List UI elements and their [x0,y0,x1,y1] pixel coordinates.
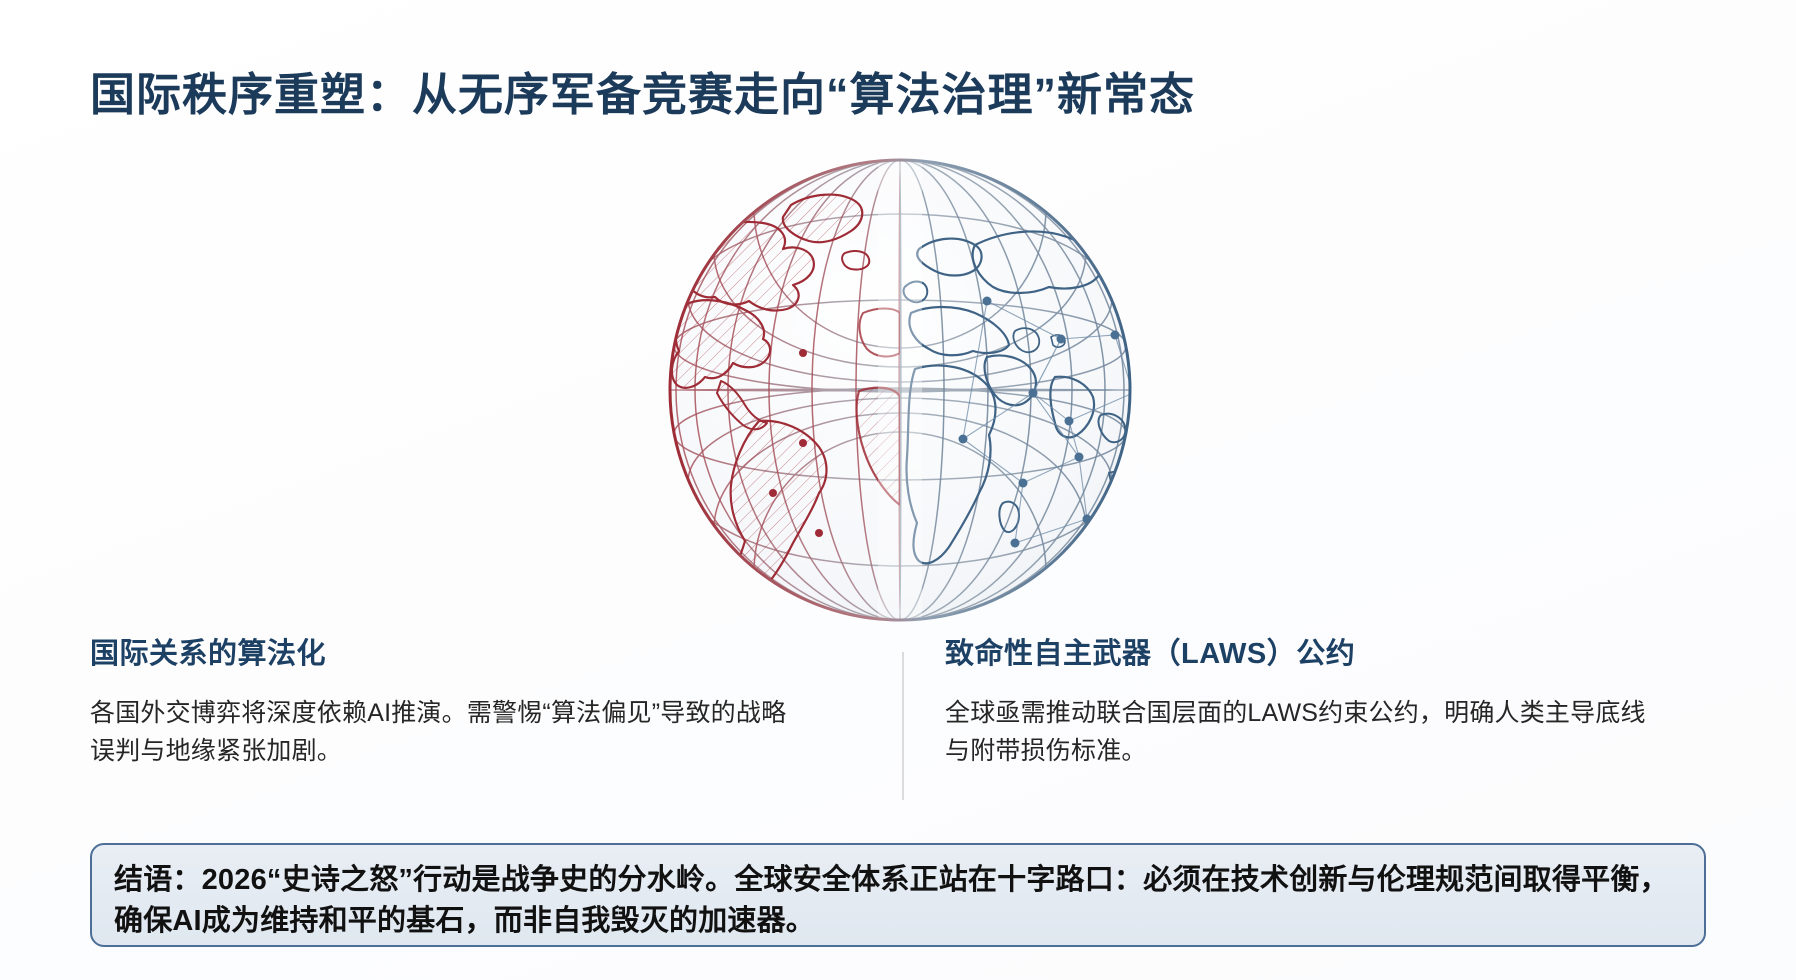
column-body-left: 各国外交博弈将深度依赖AI推演。需警惕“算法偏见”导致的战略误判与地缘紧张加剧。 [90,694,800,770]
column-laws-convention: 致命性自主武器（LAWS）公约 全球亟需推动联合国层面的LAWS约束公约，明确人… [945,630,1655,770]
column-heading-left: 国际关系的算法化 [90,630,800,672]
page-title: 国际秩序重塑：从无序军备竞赛走向“算法治理”新常态 [90,58,1195,123]
column-body-right: 全球亟需推动联合国层面的LAWS约束公约，明确人类主导底线与附带损伤标准。 [945,694,1655,770]
content-columns: 国际关系的算法化 各国外交博弈将深度依赖AI推演。需警惕“算法偏见”导致的战略误… [90,630,1710,800]
globe-icon [663,153,1137,627]
column-heading-right: 致命性自主武器（LAWS）公约 [945,630,1655,672]
conclusion-box: 结语：2026“史诗之怒”行动是战争史的分水岭。全球安全体系正站在十字路口：必须… [90,843,1706,947]
conclusion-text: 结语：2026“史诗之怒”行动是战争史的分水岭。全球安全体系正站在十字路口：必须… [114,860,1682,942]
column-divider [902,652,904,800]
column-international-relations: 国际关系的算法化 各国外交博弈将深度依赖AI推演。需警惕“算法偏见”导致的战略误… [90,630,800,770]
slide-root: 国际秩序重塑：从无序军备竞赛走向“算法治理”新常态 [0,0,1796,980]
world-globe-illustration [663,153,1137,627]
